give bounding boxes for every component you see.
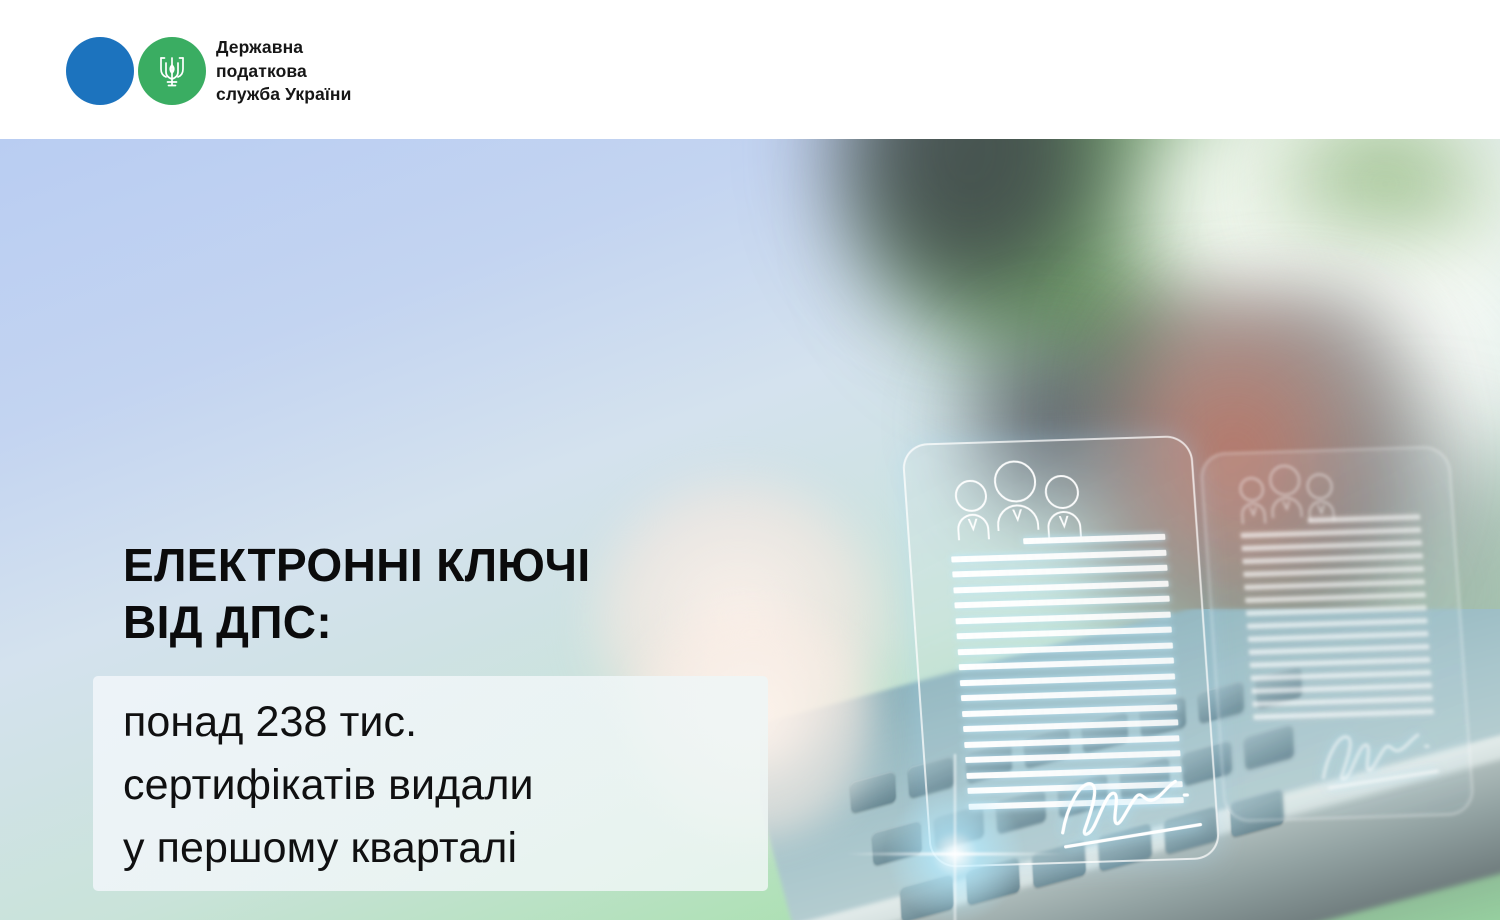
blue-circle-icon bbox=[66, 37, 134, 105]
page-title: ЕЛЕКТРОННІ КЛЮЧІ ВІД ДПС: bbox=[123, 537, 591, 651]
green-circle-icon bbox=[138, 37, 206, 105]
organization-logo: Державна податкова служба України bbox=[66, 36, 351, 107]
back-document-card bbox=[1199, 446, 1475, 823]
document-text-lines bbox=[1240, 514, 1435, 727]
page-subtitle: понад 238 тис. сертифікатів видали у пер… bbox=[123, 691, 534, 880]
signature-icon bbox=[1054, 758, 1210, 849]
header-bar: Державна податкова служба України bbox=[0, 0, 1500, 139]
ukrainian-trident-icon bbox=[157, 52, 187, 90]
people-group-icon bbox=[954, 479, 1078, 541]
logo-circles bbox=[66, 37, 206, 105]
signature-icon bbox=[1316, 716, 1447, 792]
light-flare-ray bbox=[954, 754, 957, 920]
poster-canvas: Державна податкова служба України bbox=[0, 0, 1500, 920]
hero-photo: ЕЛЕКТРОННІ КЛЮЧІ ВІД ДПС: понад 238 тис.… bbox=[0, 139, 1500, 920]
organization-name: Державна податкова служба України bbox=[216, 36, 351, 107]
